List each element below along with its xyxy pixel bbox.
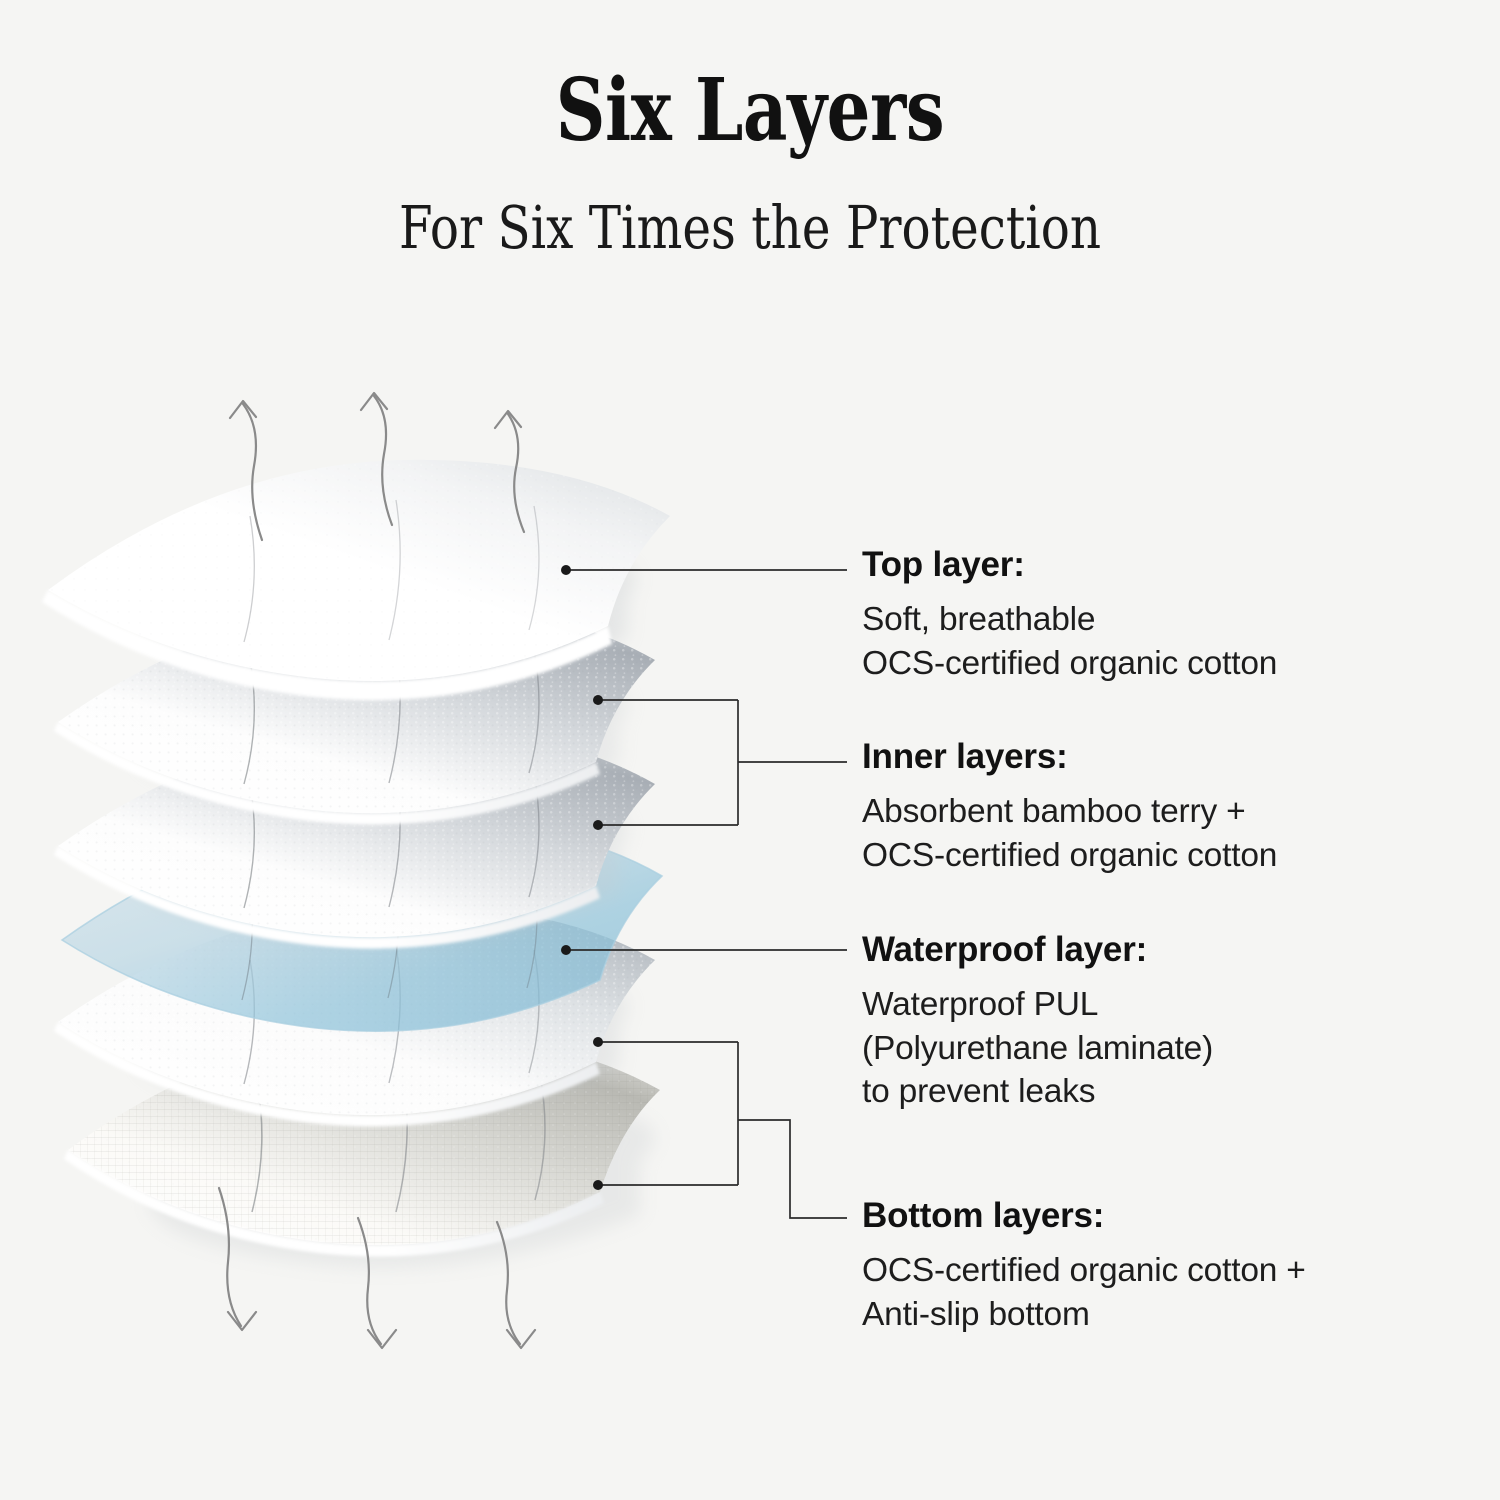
leader-line-bottom-step bbox=[738, 1120, 847, 1218]
callout-heading: Bottom layers: bbox=[862, 1196, 1482, 1235]
callout-body: Absorbent bamboo terry + OCS-certified o… bbox=[862, 790, 1482, 877]
callout-bottom-layers: Bottom layers: OCS-certified organic cot… bbox=[862, 1196, 1482, 1336]
airflow-arrow-up-1 bbox=[230, 401, 262, 540]
infographic-root: Six Layers For Six Times the Protection bbox=[0, 0, 1500, 1500]
airflow-arrow-up-2 bbox=[361, 393, 392, 525]
page-subtitle: For Six Times the Protection bbox=[135, 156, 1365, 261]
leader-dot-inner-upper bbox=[593, 695, 603, 705]
airflow-arrow-down-1 bbox=[219, 1188, 256, 1330]
layer-top-cotton bbox=[42, 460, 670, 700]
callout-heading: Inner layers: bbox=[862, 737, 1482, 776]
leader-dot-bottom-upper bbox=[593, 1037, 603, 1047]
callout-top-layer: Top layer: Soft, breathable OCS-certifie… bbox=[862, 545, 1482, 685]
airflow-arrow-down-3 bbox=[497, 1222, 535, 1348]
heading-block: Six Layers For Six Times the Protection bbox=[0, 66, 1500, 261]
callout-heading: Waterproof layer: bbox=[862, 930, 1482, 969]
leader-dot-waterproof bbox=[561, 945, 571, 955]
callout-heading: Top layer: bbox=[862, 545, 1482, 584]
callout-body: Soft, breathable OCS-certified organic c… bbox=[862, 598, 1482, 685]
airflow-arrow-down-2 bbox=[358, 1218, 396, 1348]
leader-dot-inner-lower bbox=[593, 820, 603, 830]
leader-dot-bottom-lower bbox=[593, 1180, 603, 1190]
callout-body: Waterproof PUL (Polyurethane laminate) t… bbox=[862, 983, 1482, 1114]
leader-dots bbox=[561, 565, 603, 1190]
layer-inner-cotton bbox=[54, 728, 655, 949]
layer-bottom-cotton bbox=[54, 905, 655, 1126]
layer-anti-slip-bottom bbox=[64, 1032, 660, 1268]
leader-lines bbox=[566, 570, 847, 1218]
leader-dot-top-layer bbox=[561, 565, 571, 575]
airflow-arrows-up bbox=[230, 393, 524, 540]
page-title: Six Layers bbox=[150, 66, 1350, 156]
airflow-arrows-down bbox=[219, 1188, 535, 1348]
airflow-arrow-up-3 bbox=[495, 411, 524, 532]
callout-waterproof-layer: Waterproof layer: Waterproof PUL (Polyur… bbox=[862, 930, 1482, 1114]
layer-inner-bamboo-terry bbox=[54, 604, 655, 825]
callout-body: OCS-certified organic cotton + Anti-slip… bbox=[862, 1249, 1482, 1336]
callout-inner-layers: Inner layers: Absorbent bamboo terry + O… bbox=[862, 737, 1482, 877]
layer-waterproof-pul bbox=[62, 820, 662, 1031]
